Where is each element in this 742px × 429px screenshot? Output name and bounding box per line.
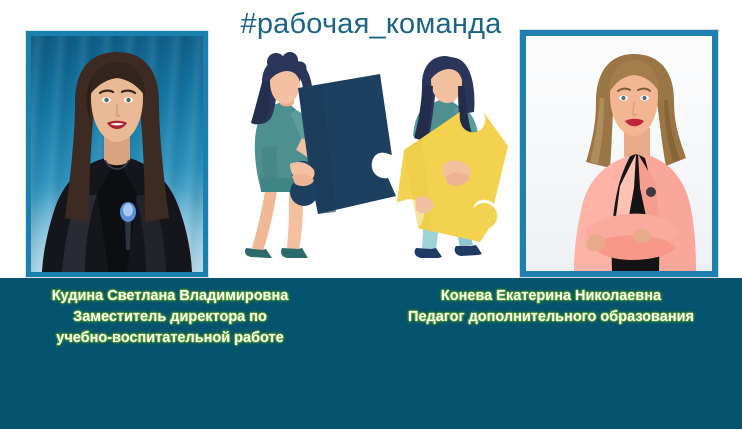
person-2-name: Конева Екатерина Николаевна (360, 286, 742, 307)
puzzle-piece-dark (290, 74, 398, 214)
slide-canvas: #рабочая_команда (0, 0, 742, 429)
person-1-name: Кудина Светлана Владимировна (0, 286, 340, 307)
photo-frame-right (520, 30, 718, 277)
photo-frame-left (26, 31, 208, 277)
portrait-photo-left (31, 36, 203, 272)
portrait-right-figure (526, 36, 712, 271)
person-1-role-line-2: учебно-воспитательной работе (0, 328, 340, 349)
portrait-left-figure (31, 36, 203, 272)
person-1-role-line-1: Заместитель директора по (0, 307, 340, 328)
two-women-puzzle-illustration (232, 52, 512, 278)
portrait-photo-right (526, 36, 712, 271)
caption-person-1: Кудина Светлана Владимировна Заместитель… (0, 286, 340, 349)
puzzle-piece-yellow (389, 110, 508, 242)
caption-band: Кудина Светлана Владимировна Заместитель… (0, 278, 742, 429)
caption-person-2: Конева Екатерина Николаевна Педагог допо… (360, 286, 742, 328)
person-2-role-line-1: Педагог дополнительного образования (360, 307, 742, 328)
